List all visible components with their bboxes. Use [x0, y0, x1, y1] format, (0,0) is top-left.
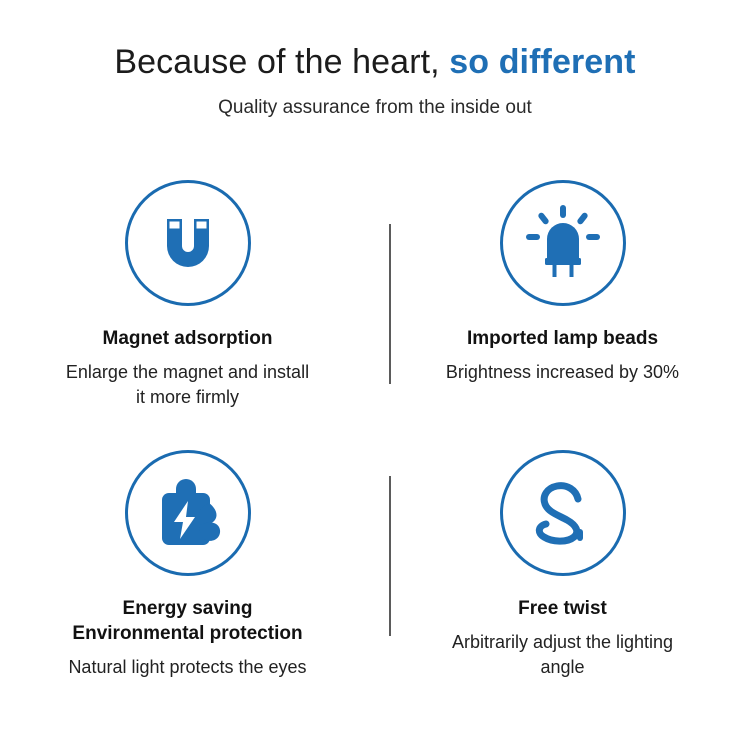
feature-title-magnet: Magnet adsorption — [103, 326, 273, 351]
header: Because of the heart, so different Quali… — [0, 0, 750, 120]
page-title: Because of the heart, so different — [0, 42, 750, 82]
product-feature-panel: Because of the heart, so different Quali… — [0, 0, 750, 750]
led-lamp-bead-icon — [523, 203, 603, 283]
feature-title-free-twist: Free twist — [518, 596, 607, 621]
gooseneck-twist-icon — [523, 473, 603, 553]
feature-row-1: Magnet adsorption Enlarge the magnet and… — [0, 166, 750, 436]
feature-row-2: Energy saving Environmental protection N… — [0, 436, 750, 716]
column-divider — [389, 476, 391, 636]
page-subtitle: Quality assurance from the inside out — [0, 96, 750, 120]
feature-desc-magnet: Enlarge the magnet and install it more f… — [66, 360, 309, 410]
feature-title-energy-saving: Energy saving Environmental protection — [72, 596, 302, 646]
page-title-accent: so different — [449, 43, 635, 81]
icon-circle-magnet — [125, 180, 251, 306]
icon-circle-energy-saving — [125, 450, 251, 576]
column-divider — [389, 224, 391, 384]
page-title-plain: Because of the heart, — [114, 43, 449, 81]
feature-card-lamp-beads: Imported lamp beads Brightness increased… — [375, 166, 750, 436]
icon-circle-free-twist — [500, 450, 626, 576]
feature-title-lamp-beads: Imported lamp beads — [467, 326, 658, 351]
magnet-icon — [151, 206, 225, 280]
feature-card-free-twist: Free twist Arbitrarily adjust the lighti… — [375, 436, 750, 716]
feature-desc-energy-saving: Natural light protects the eyes — [68, 655, 306, 680]
icon-circle-lamp-beads — [500, 180, 626, 306]
battery-energy-saving-icon — [148, 473, 228, 553]
feature-grid: Magnet adsorption Enlarge the magnet and… — [0, 166, 750, 716]
feature-desc-free-twist: Arbitrarily adjust the lighting angle — [452, 630, 673, 680]
feature-desc-lamp-beads: Brightness increased by 30% — [446, 360, 679, 385]
feature-card-magnet: Magnet adsorption Enlarge the magnet and… — [0, 166, 375, 436]
feature-card-energy-saving: Energy saving Environmental protection N… — [0, 436, 375, 716]
